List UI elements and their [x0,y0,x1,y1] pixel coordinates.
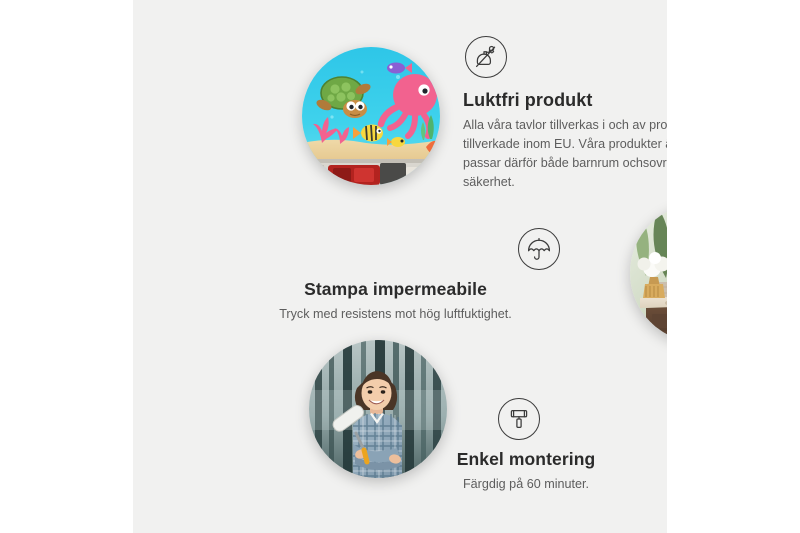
feature-title: Stampa impermeabile [223,279,568,301]
no-fragrance-icon [465,36,507,78]
umbrella-icon [518,228,560,270]
feature-description: Tryck med resistens mot hög luftfuktighe… [223,305,568,324]
content-panel: Luktfri produkt Alla våra tavlor tillver… [133,0,667,533]
underwater-cartoon-mural-photo [302,47,440,185]
bathroom-botanical-wallpaper-photo [630,204,667,342]
promo-banner: Luktfri produkt Alla våra tavlor tillver… [0,0,800,533]
feature-description: Alla våra tavlor tillverkas i och av pro… [463,116,667,193]
feature-title: Luktfri produkt [463,89,667,112]
feature-title: Enkel montering [391,449,661,471]
feature-easymount: Enkel montering Färgdig på 60 minuter. [391,398,661,494]
feature-odourless: Luktfri produkt Alla våra tavlor tillver… [463,36,667,192]
feature-description: Färgdig på 60 minuter. [391,475,661,494]
paint-roller-icon [498,398,540,440]
feature-waterproof: Stampa impermeabile Tryck med resistens … [223,228,568,324]
